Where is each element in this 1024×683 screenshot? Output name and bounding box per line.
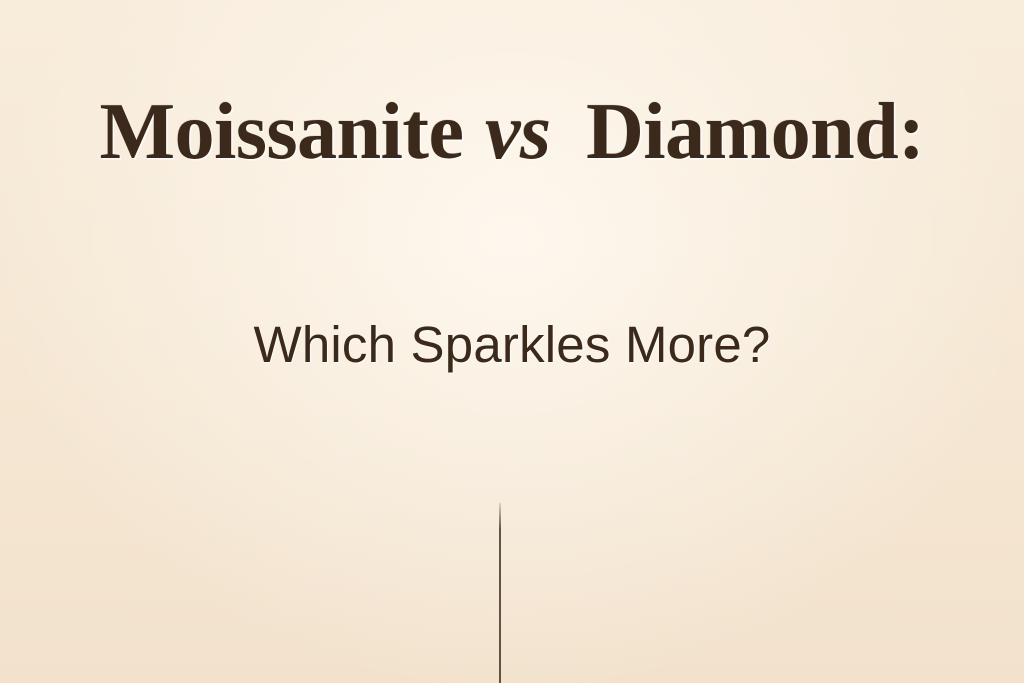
headline-part-two: Diamond:: [576, 88, 924, 176]
page-title: Moissanite vs Diamond:: [0, 92, 1024, 172]
column-divider: [499, 503, 501, 683]
promo-banner: Moissanite vs Diamond: Which Sparkles Mo…: [0, 0, 1024, 683]
headline-vs: vs: [483, 88, 557, 176]
page-subtitle: Which Sparkles More?: [0, 319, 1024, 370]
headline-part-one: Moissanite: [100, 88, 464, 176]
